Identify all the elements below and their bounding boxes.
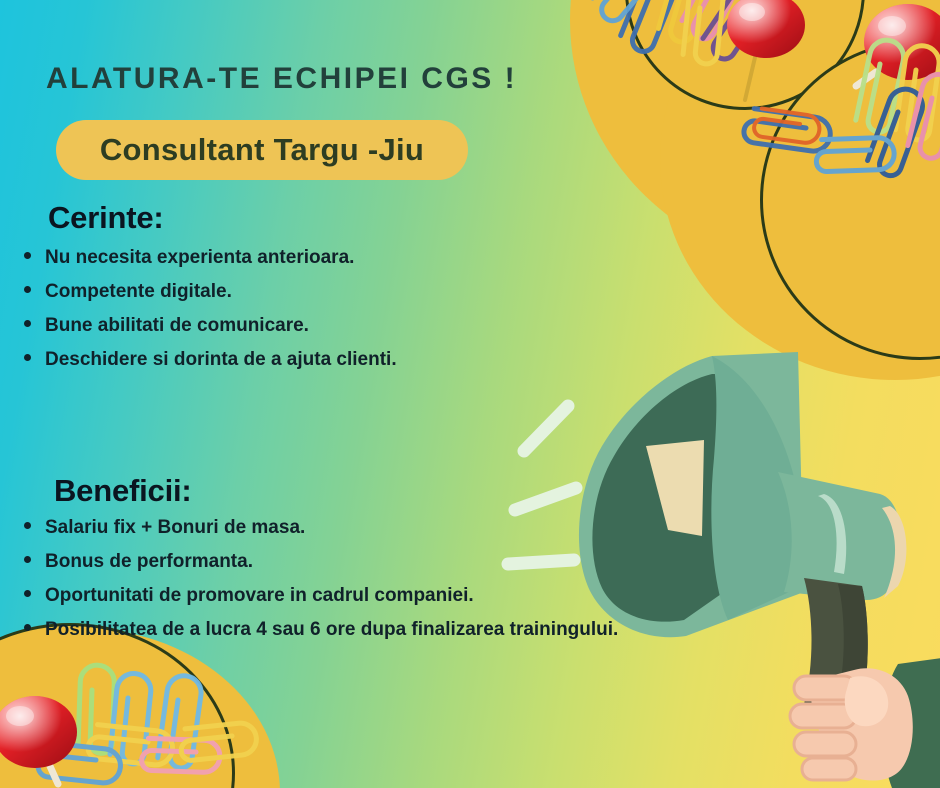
- list-item-label: Oportunitati de promovare in cadrul comp…: [45, 586, 474, 605]
- bullet-dot-icon: [24, 590, 31, 597]
- bullet-dot-icon: [24, 320, 31, 327]
- sound-lines-icon: [508, 406, 576, 564]
- job-ad-poster: ALATURA-TE ECHIPEI CGS ! Consultant Targ…: [0, 0, 940, 788]
- fingers: [790, 676, 856, 780]
- list-item: Nu necesita experienta anterioara.: [24, 248, 397, 267]
- role-pill-badge: Consultant Targu -Jiu: [56, 120, 468, 180]
- list-item: Bune abilitati de comunicare.: [24, 316, 397, 335]
- requirements-list: Nu necesita experienta anterioara. Compe…: [24, 248, 397, 384]
- list-item-label: Deschidere si dorinta de a ajuta clienti…: [45, 350, 397, 369]
- list-item-label: Bune abilitati de comunicare.: [45, 316, 309, 335]
- poster-headline: ALATURA-TE ECHIPEI CGS !: [46, 62, 517, 96]
- list-item: Deschidere si dorinta de a ajuta clienti…: [24, 350, 397, 369]
- megaphone-horn-inner: [592, 374, 724, 622]
- bullet-dot-icon: [24, 354, 31, 361]
- role-pill-label: Consultant Targu -Jiu: [100, 132, 424, 168]
- bullet-dot-icon: [24, 624, 31, 631]
- benefits-heading: Beneficii:: [54, 473, 192, 509]
- bullet-dot-icon: [24, 286, 31, 293]
- list-item: Competente digitale.: [24, 282, 397, 301]
- list-item-label: Salariu fix + Bonuri de masa.: [45, 518, 305, 537]
- requirements-heading: Cerinte:: [48, 200, 164, 236]
- list-item-label: Nu necesita experienta anterioara.: [45, 248, 354, 267]
- megaphone-illustration: [498, 348, 940, 788]
- bullet-dot-icon: [24, 252, 31, 259]
- bullet-dot-icon: [24, 522, 31, 529]
- list-item-label: Bonus de performanta.: [45, 552, 253, 571]
- bullet-dot-icon: [24, 556, 31, 563]
- list-item-label: Competente digitale.: [45, 282, 232, 301]
